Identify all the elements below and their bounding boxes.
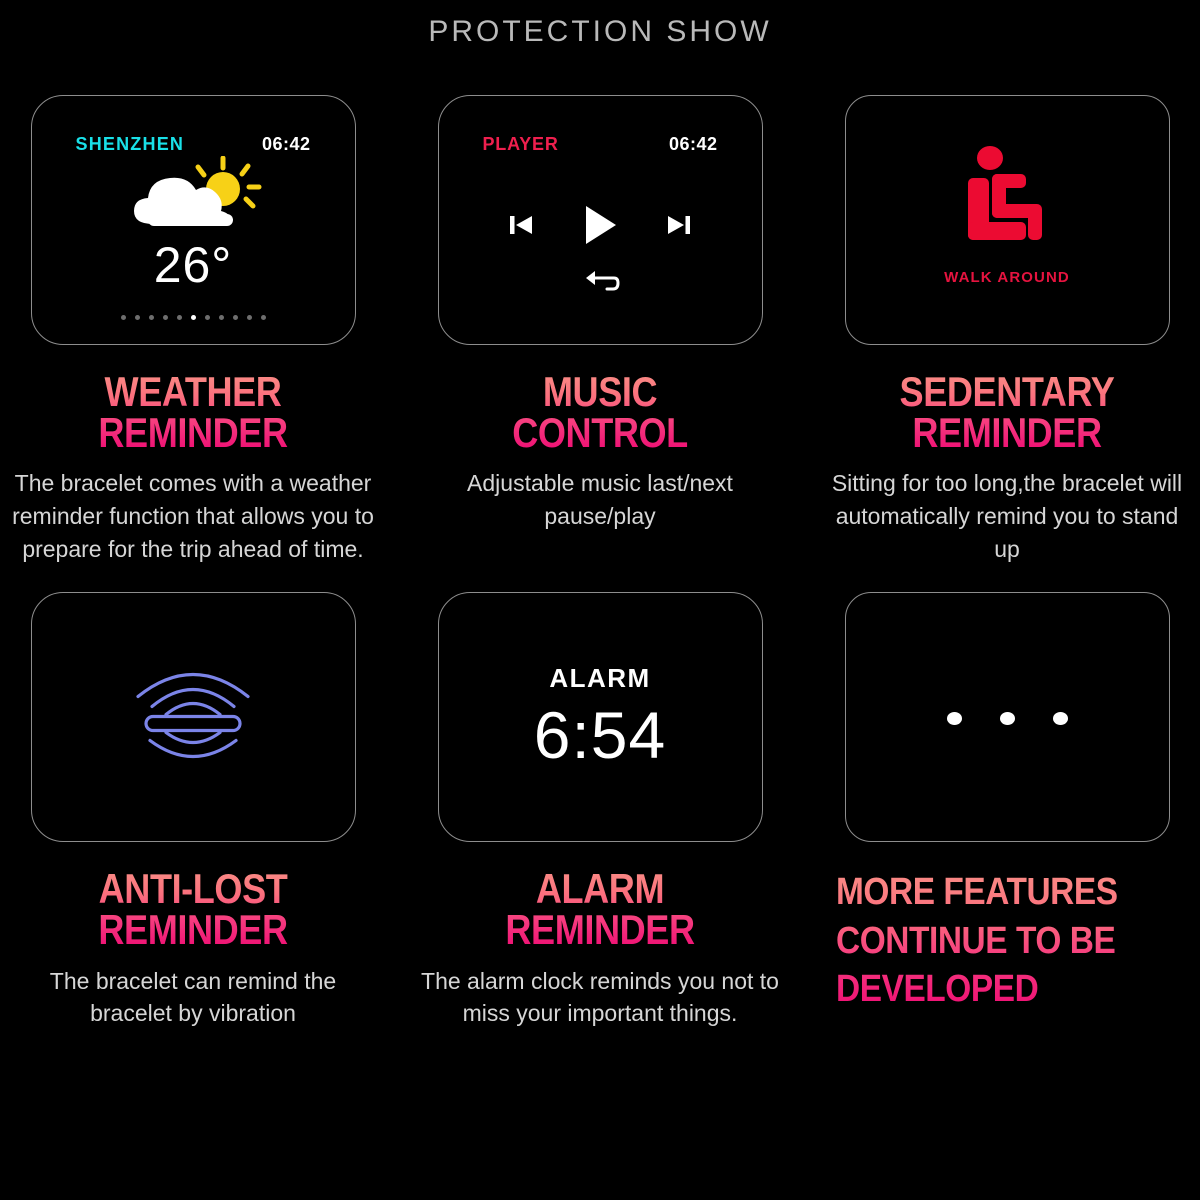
feature-card-anti-lost-reminder: ANTI-LOST REMINDER The bracelet can remi…: [0, 592, 386, 1030]
ellipsis-dot: [1053, 712, 1068, 725]
feature-description: Adjustable music last/next pause/play: [413, 467, 787, 532]
feature-title: SEDENTARY REMINDER: [846, 371, 1168, 453]
page-dot: [163, 315, 168, 320]
vibration-waves-icon: [128, 655, 258, 780]
feature-grid: SHENZHEN 06:42 26°: [0, 95, 1200, 1030]
ellipsis-dot: [947, 712, 962, 725]
watch-screen-player[interactable]: PLAYER 06:42: [438, 95, 763, 345]
sedentary-content: WALK AROUND: [846, 144, 1169, 286]
back-arrow-icon[interactable]: [580, 266, 620, 301]
weather-city-label: SHENZHEN: [76, 134, 185, 155]
seated-person-icon: [952, 144, 1062, 259]
page-dot: [205, 315, 210, 320]
feature-title: ANTI-LOST REMINDER: [32, 868, 354, 950]
ellipsis-icon: [846, 712, 1169, 725]
watch-screen-vibration[interactable]: [31, 592, 356, 842]
player-time-label: 06:42: [669, 134, 718, 155]
weather-time-label: 06:42: [262, 134, 311, 155]
player-label: PLAYER: [483, 134, 559, 155]
alarm-time: 6:54: [439, 697, 762, 773]
feature-description: The bracelet can remind the bracelet by …: [6, 965, 380, 1030]
page-title: PROTECTION SHOW: [0, 15, 1200, 49]
caption-more-features: MORE FEATURES CONTINUE TO BE DEVELOPED: [814, 868, 1200, 1013]
feature-description: The bracelet comes with a weather remind…: [6, 467, 380, 565]
play-icon[interactable]: [580, 203, 620, 252]
watch-screen-weather[interactable]: SHENZHEN 06:42 26°: [31, 95, 356, 345]
feature-card-sedentary-reminder: WALK AROUND SEDENTARY REMINDER Sitting f…: [814, 95, 1200, 565]
page-dot: [219, 315, 224, 320]
page-dot: [261, 315, 266, 320]
weather-temperature: 26°: [32, 236, 355, 294]
page-dot: [177, 315, 182, 320]
next-track-icon[interactable]: [664, 210, 694, 245]
music-transport-controls: [439, 203, 762, 252]
feature-card-weather-reminder: SHENZHEN 06:42 26°: [0, 95, 386, 565]
feature-title: ALARM REMINDER: [439, 868, 761, 950]
caption-music-control: MUSIC CONTROL Adjustable music last/next…: [407, 371, 793, 533]
ellipsis-dot: [1000, 712, 1015, 725]
page-dot: [233, 315, 238, 320]
page-dot: [247, 315, 252, 320]
feature-description: The alarm clock reminds you not to miss …: [413, 965, 787, 1030]
feature-title: MUSIC CONTROL: [439, 371, 761, 453]
feature-title: WEATHER REMINDER: [32, 371, 354, 453]
feature-card-more-features: MORE FEATURES CONTINUE TO BE DEVELOPED: [814, 592, 1200, 1030]
caption-anti-lost-reminder: ANTI-LOST REMINDER The bracelet can remi…: [0, 868, 386, 1030]
music-back-row: [439, 266, 762, 301]
previous-track-icon[interactable]: [506, 210, 536, 245]
weather-status-row: SHENZHEN 06:42: [32, 134, 355, 155]
feature-title: MORE FEATURES CONTINUE TO BE DEVELOPED: [836, 868, 1151, 1013]
sedentary-label: WALK AROUND: [944, 269, 1070, 286]
watch-screen-sedentary[interactable]: WALK AROUND: [845, 95, 1170, 345]
page-dot: [149, 315, 154, 320]
caption-alarm-reminder: ALARM REMINDER The alarm clock reminds y…: [407, 868, 793, 1030]
feature-card-music-control: PLAYER 06:42: [407, 95, 793, 565]
player-status-row: PLAYER 06:42: [439, 134, 762, 155]
page-dot: [121, 315, 126, 320]
watch-screen-alarm[interactable]: ALARM 6:54: [438, 592, 763, 842]
page-dot-active: [191, 315, 196, 320]
feature-card-alarm-reminder: ALARM 6:54 ALARM REMINDER The alarm cloc…: [407, 592, 793, 1030]
weather-page-dots[interactable]: [32, 315, 355, 320]
caption-weather-reminder: WEATHER REMINDER The bracelet comes with…: [0, 371, 386, 565]
caption-sedentary-reminder: SEDENTARY REMINDER Sitting for too long,…: [814, 371, 1200, 565]
feature-description: Sitting for too long,the bracelet will a…: [820, 467, 1194, 565]
page-dot: [135, 315, 140, 320]
sun-behind-cloud-icon: [118, 156, 268, 236]
watch-screen-more[interactable]: [845, 592, 1170, 842]
alarm-label: ALARM: [439, 663, 762, 694]
